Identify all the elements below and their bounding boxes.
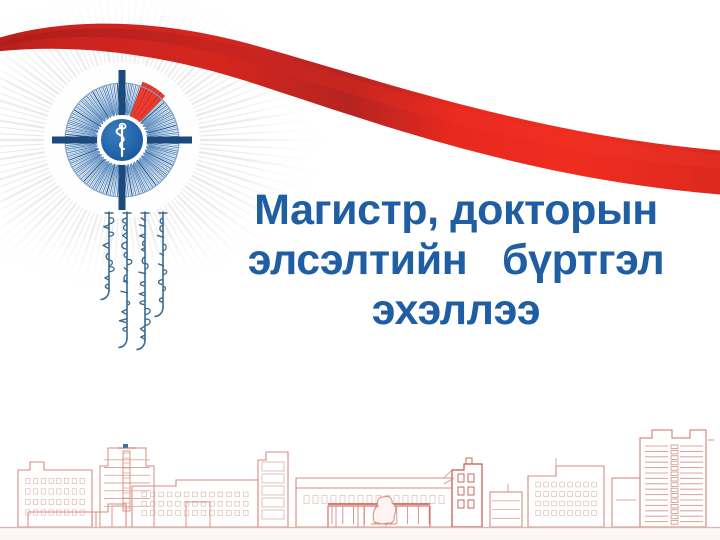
main-announcement: Магистр, докторын элсэлтийн бүртгэл эхэл…: [216, 186, 696, 336]
mongolian-script-caption: [101, 212, 167, 350]
poster-canvas: Магистр, докторын элсэлтийн бүртгэл эхэл…: [0, 0, 720, 540]
headline-line-3: эхэллээ: [216, 286, 696, 336]
headline-line-2: элсэлтийн бүртгэл: [216, 236, 696, 286]
headline-line-1: Магистр, докторын: [216, 186, 696, 236]
